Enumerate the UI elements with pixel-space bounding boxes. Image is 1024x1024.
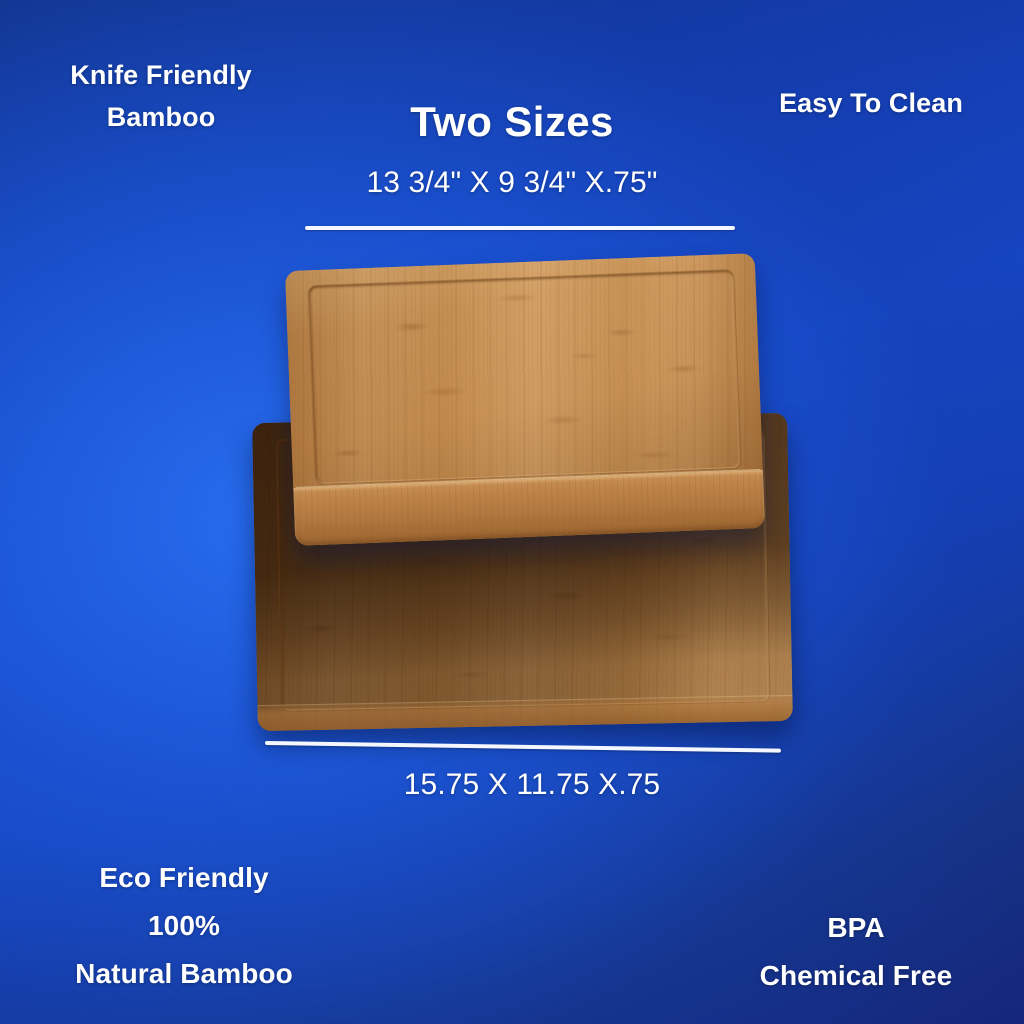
juice-groove-small [307, 269, 741, 485]
dimension-label-large: 15.75 X 11.75 X.75 [272, 768, 792, 802]
infographic-canvas: Knife Friendly Bamboo Easy To Clean Eco … [0, 0, 1024, 1024]
small-bamboo-cutting-board [285, 253, 765, 546]
product-image [0, 0, 1024, 1024]
